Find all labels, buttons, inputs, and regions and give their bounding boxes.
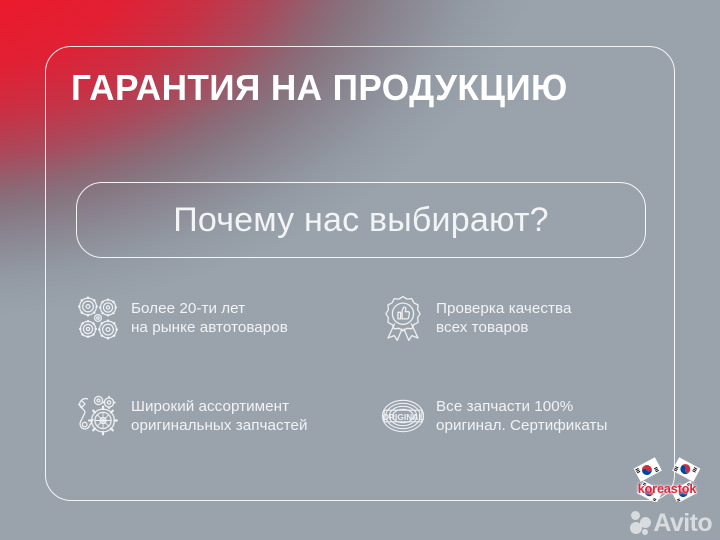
feature-line-2: на рынке автотоваров [131,318,288,337]
original-stamp-icon: ORIGINAL [381,393,425,439]
feature-item-original-parts: ORIGINAL Все запчасти 100% оригинал. Сер… [381,393,676,439]
features-grid: Более 20-ти лет на рынке автотоваров [76,295,676,439]
feature-line-2: всех товаров [436,318,571,337]
feature-item-wide-assortment: Широкий ассортимент оригинальных запчаст… [76,393,371,439]
feature-text-years-on-market: Более 20-ти лет на рынке автотоваров [131,299,288,337]
feature-text-quality-check: Проверка качества всех товаров [436,299,571,337]
feature-line-1: Все запчасти 100% [436,397,608,416]
brand-logo-wordmark: koreastok [628,482,706,496]
feature-line-2: оригинал. Сертификаты [436,416,608,435]
feature-text-wide-assortment: Широкий ассортимент оригинальных запчаст… [131,397,308,435]
subtitle-pill: Почему нас выбирают? [76,182,646,258]
feature-text-original-parts: Все запчасти 100% оригинал. Сертификаты [436,397,608,435]
brand-logo: koreastok [628,456,706,504]
avito-dots-icon [630,510,652,536]
wrench-gears-icon [76,393,120,439]
original-stamp-label: ORIGINAL [382,413,423,422]
feature-line-1: Широкий ассортимент [131,397,308,416]
gears-grid-icon [76,295,120,341]
avito-watermark: Avito [630,508,712,538]
feature-line-1: Проверка качества [436,299,571,318]
promo-card: ГАРАНТИЯ НА ПРОДУКЦИЮ Почему нас выбираю… [45,46,675,501]
page-title: ГАРАНТИЯ НА ПРОДУКЦИЮ [71,67,568,109]
subtitle-text: Почему нас выбирают? [173,201,549,240]
feature-line-1: Более 20-ти лет [131,299,288,318]
avito-watermark-text: Avito [653,509,712,538]
feature-item-years-on-market: Более 20-ти лет на рынке автотоваров [76,295,371,341]
feature-line-2: оригинальных запчастей [131,416,308,435]
feature-item-quality-check: Проверка качества всех товаров [381,295,676,341]
quality-badge-thumbs-up-icon [381,295,425,341]
